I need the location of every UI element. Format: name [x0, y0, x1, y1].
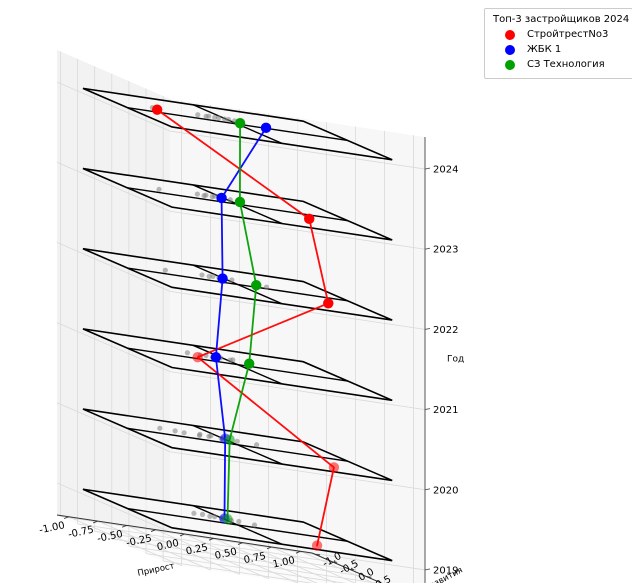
scatter-point-background: [212, 194, 217, 199]
tick-label-z-1: 2020: [433, 485, 458, 496]
circle-icon: [505, 45, 515, 55]
scatter-point-background: [185, 350, 190, 355]
series-marker-2-0[interactable]: [222, 514, 232, 524]
tick-mark-z: [425, 168, 430, 169]
tick-label-z-5: 2024: [433, 165, 458, 176]
scatter-point-background: [200, 512, 205, 517]
legend: Топ-3 застройщиков 2024 СтройтрестNo3ЖБК…: [484, 8, 632, 79]
scatter-point-background: [207, 514, 212, 519]
scatter-point-background: [197, 432, 202, 437]
axis-title-x: Прирост: [137, 561, 176, 579]
figure-3d-scatter: -1.00-0.75-0.50-0.250.000.250.500.751.00…: [0, 0, 632, 583]
legend-item[interactable]: ЖБК 1: [493, 42, 629, 57]
legend-item-label: ЖБК 1: [527, 44, 561, 55]
series-marker-1-3[interactable]: [217, 273, 227, 283]
series-marker-0-2[interactable]: [192, 352, 202, 362]
legend-marker-icon: [493, 60, 527, 70]
pane-left-wall: [57, 50, 170, 564]
scatter-point-background: [226, 117, 231, 122]
tick-mark-z: [425, 489, 430, 490]
scatter-point-background: [173, 428, 178, 433]
circle-icon: [505, 60, 515, 70]
tick-mark-z: [425, 409, 430, 410]
series-marker-1-4[interactable]: [216, 193, 226, 203]
legend-entries: СтройтрестNo3ЖБК 1СЗ Технология: [493, 27, 629, 72]
series-marker-0-4[interactable]: [304, 214, 314, 224]
scatter-point-background: [252, 522, 257, 527]
scatter-point-background: [206, 114, 211, 119]
scatter-point-background: [195, 112, 200, 117]
tick-label-z-3: 2022: [433, 325, 458, 336]
scatter-point-background: [254, 442, 259, 447]
scatter-point-background: [229, 277, 234, 282]
scatter-point-background: [191, 511, 196, 516]
series-marker-1-5[interactable]: [261, 123, 271, 133]
tick-mark-z: [425, 328, 430, 329]
circle-icon: [505, 30, 515, 40]
legend-item-label: СтройтрестNo3: [527, 29, 608, 40]
legend-title: Топ-3 застройщиков 2024: [493, 14, 629, 25]
scatter-point-background: [156, 187, 161, 192]
scatter-point-background: [212, 514, 217, 519]
scatter-point-background: [216, 115, 221, 120]
scatter-point-background: [264, 284, 269, 289]
series-marker-1-2[interactable]: [211, 352, 221, 362]
legend-item[interactable]: СтройтрестNo3: [493, 27, 629, 42]
plot-canvas: -1.00-0.75-0.50-0.250.000.250.500.751.00…: [0, 0, 632, 583]
scatter-point-background: [163, 268, 168, 273]
scatter-point-background: [210, 274, 215, 279]
tick-label-x-1: -0.75: [67, 525, 95, 541]
legend-item-label: СЗ Технология: [527, 59, 605, 70]
scatter-point-background: [208, 433, 213, 438]
legend-marker-icon: [493, 45, 527, 55]
tick-mark-z: [425, 569, 430, 570]
scatter-point-background: [199, 272, 204, 277]
series-marker-0-5[interactable]: [152, 104, 162, 114]
scatter-point-background: [182, 430, 187, 435]
scatter-point-background: [157, 426, 162, 431]
series-marker-2-5[interactable]: [235, 118, 245, 128]
scatter-point-background: [228, 197, 233, 202]
axis-title-z: Год: [447, 354, 464, 364]
series-marker-2-4[interactable]: [235, 197, 245, 207]
series-marker-0-1[interactable]: [329, 462, 339, 472]
tick-label-z-4: 2023: [433, 245, 458, 256]
series-marker-0-3[interactable]: [323, 298, 333, 308]
scatter-point-background: [230, 357, 235, 362]
series-marker-0-0[interactable]: [312, 540, 322, 550]
scatter-point-background: [235, 439, 240, 444]
series-marker-2-2[interactable]: [244, 359, 254, 369]
series-marker-2-3[interactable]: [251, 280, 261, 290]
legend-marker-icon: [493, 30, 527, 40]
legend-item[interactable]: СЗ Технология: [493, 57, 629, 72]
tick-label-x-0: -1.00: [38, 520, 66, 536]
scatter-point-background: [195, 191, 200, 196]
tick-label-z-2: 2021: [433, 405, 458, 416]
scatter-point-background: [203, 193, 208, 198]
tick-mark-z: [425, 248, 430, 249]
scatter-point-background: [236, 519, 241, 524]
series-marker-2-1[interactable]: [224, 434, 234, 444]
